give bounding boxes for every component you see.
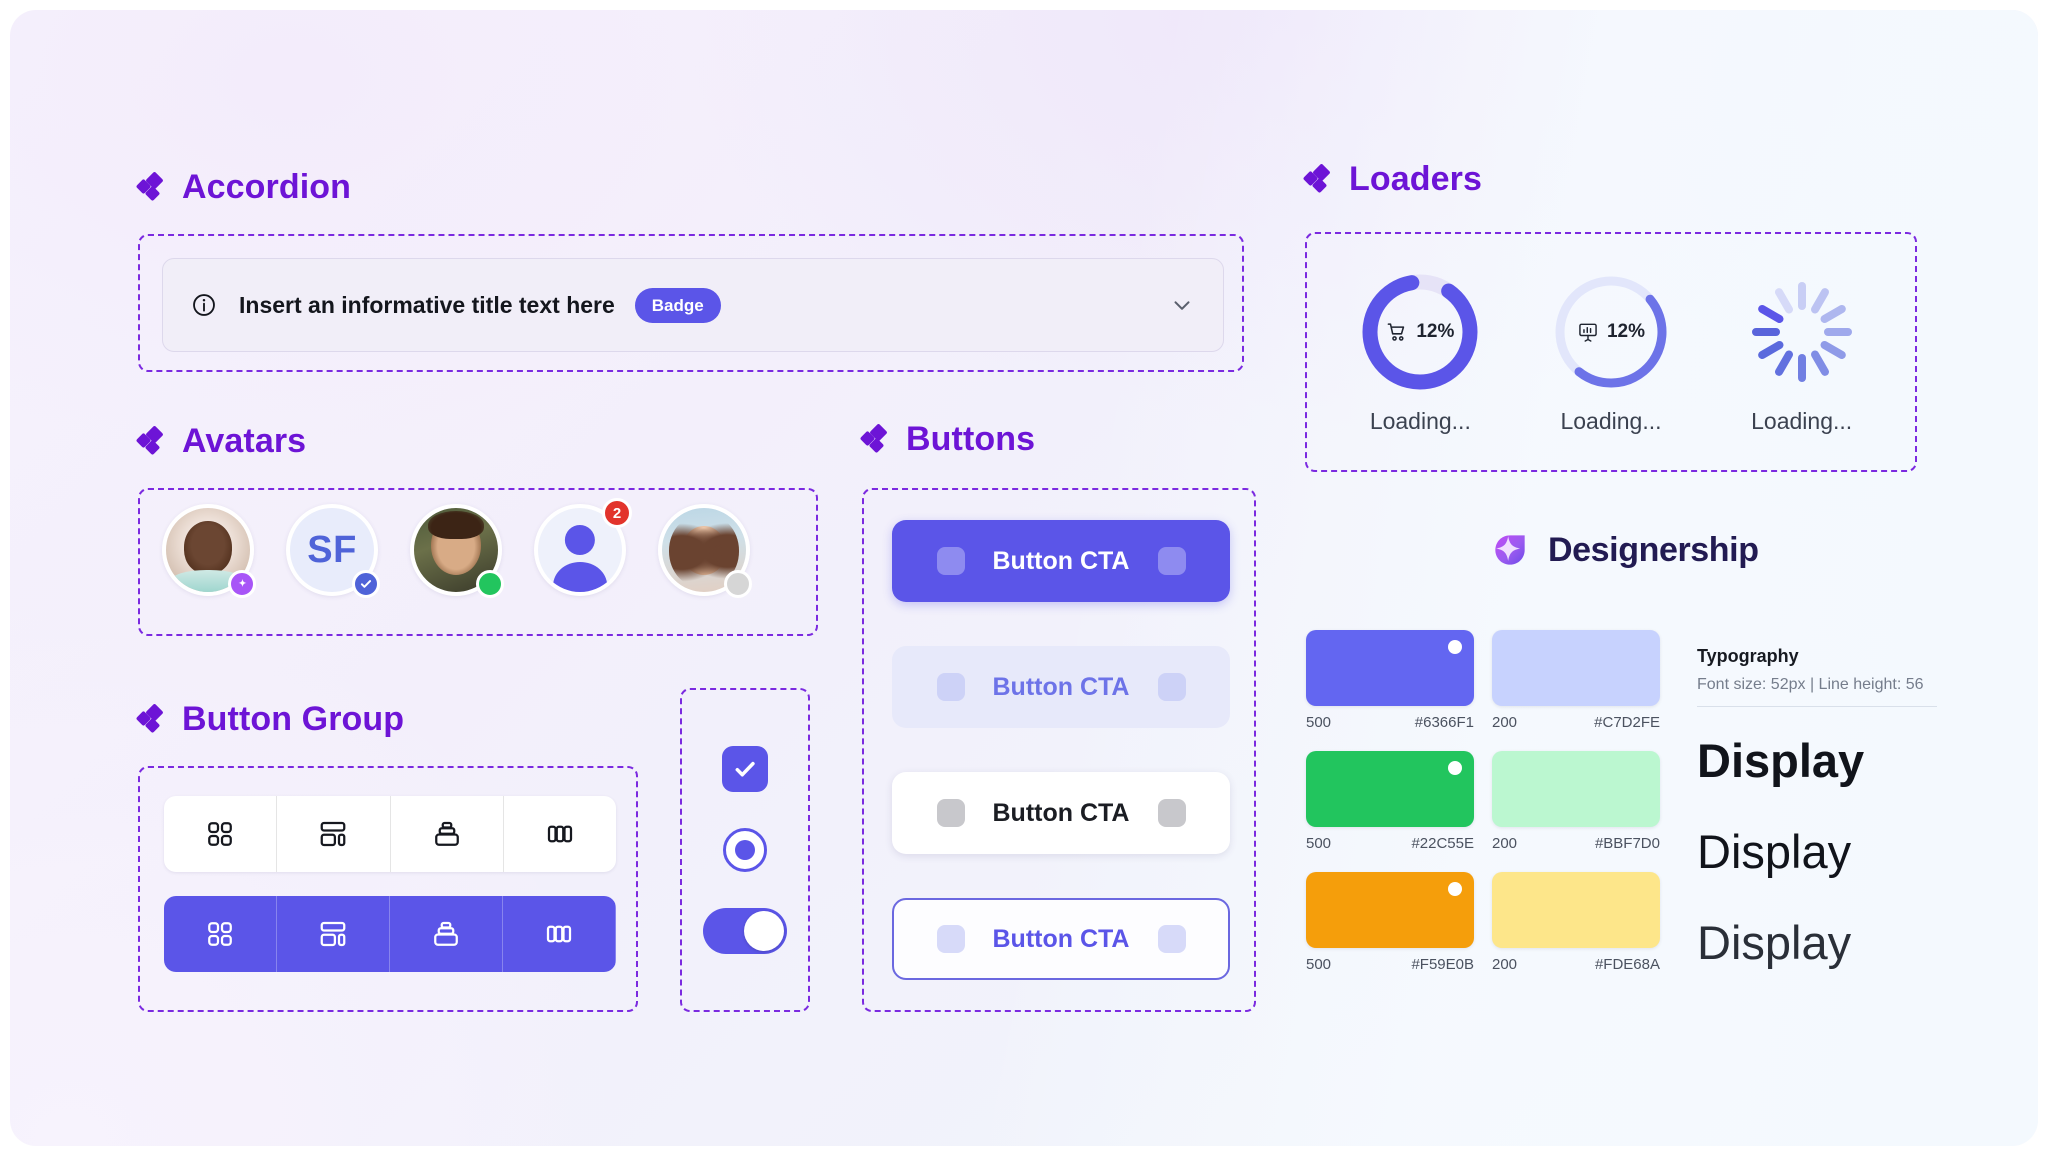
- avatars-frame: SF 2: [138, 488, 818, 636]
- section-header-buttons: Buttons: [862, 420, 1035, 459]
- section-title: Loaders: [1349, 160, 1482, 199]
- swatch-chip: [1492, 872, 1660, 948]
- layout-dashboard-icon: [318, 819, 348, 849]
- loader-caption: Loading...: [1560, 408, 1661, 435]
- swatch-step: 500: [1306, 835, 1331, 852]
- section-title: Buttons: [906, 420, 1035, 459]
- check-icon: [731, 755, 759, 783]
- swatch-dot-icon: [1448, 761, 1462, 775]
- trailing-icon-placeholder: [1158, 547, 1186, 575]
- toggle-knob: [744, 911, 784, 951]
- spinner-rays-icon: [1740, 270, 1864, 394]
- button-cta-soft[interactable]: Button CTA: [892, 646, 1230, 728]
- leading-icon-placeholder: [937, 547, 965, 575]
- button-label: Button CTA: [993, 799, 1130, 828]
- loader-caption: Loading...: [1751, 408, 1852, 435]
- designership-spark-logo-icon: [1488, 528, 1532, 572]
- button-group-item-layout[interactable]: [277, 796, 390, 872]
- swatch-step: 200: [1492, 956, 1517, 973]
- button-cta-primary[interactable]: Button CTA: [892, 520, 1230, 602]
- swatch-step: 500: [1306, 956, 1331, 973]
- swatch-hex: #C7D2FE: [1594, 714, 1660, 731]
- swatch-step: 200: [1492, 835, 1517, 852]
- swatch-chip: [1492, 751, 1660, 827]
- grid-four-icon: [205, 819, 235, 849]
- loader-spinner: Loading...: [1740, 270, 1864, 435]
- button-group-item-layout[interactable]: [277, 896, 390, 972]
- swatch-step: 200: [1492, 714, 1517, 731]
- button-label: Button CTA: [993, 673, 1130, 702]
- swatch-hex: #22C55E: [1411, 835, 1474, 852]
- color-swatches: 500 #6366F1 200 #C7D2FE 500 #22C55E: [1306, 630, 1666, 993]
- swatch[interactable]: 500 #22C55E: [1306, 751, 1474, 852]
- progress-percent: 12%: [1607, 321, 1645, 343]
- avatar[interactable]: [410, 504, 502, 596]
- swatch[interactable]: 200 #BBF7D0: [1492, 751, 1660, 852]
- status-badge-purple-icon: [228, 570, 256, 598]
- leading-icon-placeholder: [937, 799, 965, 827]
- brand-name: Designership: [1548, 531, 1759, 570]
- loaders-frame: 12% Loading...: [1305, 232, 1917, 472]
- button-group-item-columns[interactable]: [504, 796, 616, 872]
- typography-meta: Font size: 52px | Line height: 56: [1697, 676, 1937, 694]
- buttons-frame: Button CTA Button CTA Button CTA Button …: [862, 488, 1256, 1012]
- button-group-item-grid[interactable]: [164, 796, 277, 872]
- loader-cart: 12% Loading...: [1358, 270, 1482, 435]
- presentation-chart-icon: [1577, 321, 1599, 343]
- sparkle-icon: [138, 173, 168, 203]
- chevron-down-icon[interactable]: [1169, 292, 1195, 318]
- leading-icon-placeholder: [937, 925, 965, 953]
- swatch-hex: #F59E0B: [1411, 956, 1474, 973]
- trailing-icon-placeholder: [1158, 925, 1186, 953]
- notification-count-badge: 2: [602, 498, 632, 528]
- swatch[interactable]: 200 #FDE68A: [1492, 872, 1660, 973]
- swatch-hex: #FDE68A: [1595, 956, 1660, 973]
- accordion-title: Insert an informative title text here: [239, 292, 615, 319]
- button-group-frame: [138, 766, 638, 1012]
- sparkle-icon: [138, 427, 168, 457]
- button-label: Button CTA: [993, 547, 1130, 576]
- trailing-icon-placeholder: [1158, 673, 1186, 701]
- swatch-row: 500 #F59E0B 200 #FDE68A: [1306, 872, 1666, 973]
- type-sample-bold: Display: [1697, 737, 1937, 784]
- avatar[interactable]: [162, 504, 254, 596]
- swatch-hex: #BBF7D0: [1595, 835, 1660, 852]
- stack-icon: [432, 819, 462, 849]
- info-circle-icon: [191, 292, 217, 318]
- radio-selected[interactable]: [723, 828, 767, 872]
- accordion-item[interactable]: Insert an informative title text here Ba…: [162, 258, 1224, 352]
- swatch[interactable]: 500 #F59E0B: [1306, 872, 1474, 973]
- design-system-canvas: Accordion Insert an informative title te…: [10, 10, 2038, 1146]
- button-group-item-columns[interactable]: [503, 896, 616, 972]
- swatch-step: 500: [1306, 714, 1331, 731]
- swatch-row: 500 #22C55E 200 #BBF7D0: [1306, 751, 1666, 852]
- typography-title: Typography: [1697, 646, 1937, 667]
- section-header-button-group: Button Group: [138, 700, 404, 739]
- sparkle-icon: [1305, 165, 1335, 195]
- radio-dot: [735, 840, 755, 860]
- type-sample-light: Display: [1697, 919, 1937, 966]
- section-header-avatars: Avatars: [138, 422, 306, 461]
- avatar[interactable]: [658, 504, 750, 596]
- checkbox-checked[interactable]: [722, 746, 768, 792]
- progress-ring-soft: 12%: [1549, 270, 1673, 394]
- section-header-loaders: Loaders: [1305, 160, 1482, 199]
- spark-glyph-icon: [235, 577, 250, 592]
- stack-icon: [431, 919, 461, 949]
- swatch-chip: [1306, 751, 1474, 827]
- trailing-icon-placeholder: [1158, 799, 1186, 827]
- progress-ring-strong: 12%: [1358, 270, 1482, 394]
- progress-percent: 12%: [1416, 321, 1454, 343]
- avatar[interactable]: 2: [534, 504, 626, 596]
- button-label: Button CTA: [993, 925, 1130, 954]
- columns-icon: [544, 919, 574, 949]
- button-group-solid: [164, 896, 616, 972]
- swatch-row: 500 #6366F1 200 #C7D2FE: [1306, 630, 1666, 731]
- status-badge-online-icon: [476, 570, 504, 598]
- check-glyph-icon: [359, 577, 373, 591]
- avatar-group: SF 2: [162, 504, 750, 596]
- loader-caption: Loading...: [1370, 408, 1471, 435]
- sparkle-icon: [862, 425, 892, 455]
- section-title: Avatars: [182, 422, 306, 461]
- toggle-on[interactable]: [703, 908, 787, 954]
- controls-frame: [680, 688, 810, 1012]
- typography-panel: Typography Font size: 52px | Line height…: [1697, 646, 1937, 966]
- swatch-hex: #6366F1: [1415, 714, 1474, 731]
- divider: [1697, 706, 1937, 707]
- layout-dashboard-icon: [318, 919, 348, 949]
- verified-check-icon: [352, 570, 380, 598]
- status-badge-offline-icon: [724, 570, 752, 598]
- spinner-icon: [1740, 270, 1864, 394]
- swatch-chip: [1306, 872, 1474, 948]
- swatch-dot-icon: [1448, 640, 1462, 654]
- grid-four-icon: [205, 919, 235, 949]
- sparkle-icon: [138, 705, 168, 735]
- button-cta-outline[interactable]: Button CTA: [892, 898, 1230, 980]
- section-header-accordion: Accordion: [138, 168, 351, 207]
- button-group-item-stack[interactable]: [391, 796, 504, 872]
- columns-icon: [545, 819, 575, 849]
- brand-lockup: Designership: [1488, 528, 1759, 572]
- swatch-chip: [1492, 630, 1660, 706]
- avatar[interactable]: SF: [286, 504, 378, 596]
- status-badge: Badge: [635, 288, 721, 323]
- loader-chart: 12% Loading...: [1549, 270, 1673, 435]
- shopping-cart-icon: [1386, 321, 1408, 343]
- swatch[interactable]: 500 #6366F1: [1306, 630, 1474, 731]
- swatch-chip: [1306, 630, 1474, 706]
- button-group-item-grid[interactable]: [164, 896, 277, 972]
- swatch-dot-icon: [1448, 882, 1462, 896]
- swatch[interactable]: 200 #C7D2FE: [1492, 630, 1660, 731]
- type-sample-regular: Display: [1697, 828, 1937, 875]
- button-group-light: [164, 796, 616, 872]
- section-title: Accordion: [182, 168, 351, 207]
- button-cta-white[interactable]: Button CTA: [892, 772, 1230, 854]
- button-group-item-stack[interactable]: [390, 896, 503, 972]
- leading-icon-placeholder: [937, 673, 965, 701]
- accordion-frame: Insert an informative title text here Ba…: [138, 234, 1244, 372]
- section-title: Button Group: [182, 700, 404, 739]
